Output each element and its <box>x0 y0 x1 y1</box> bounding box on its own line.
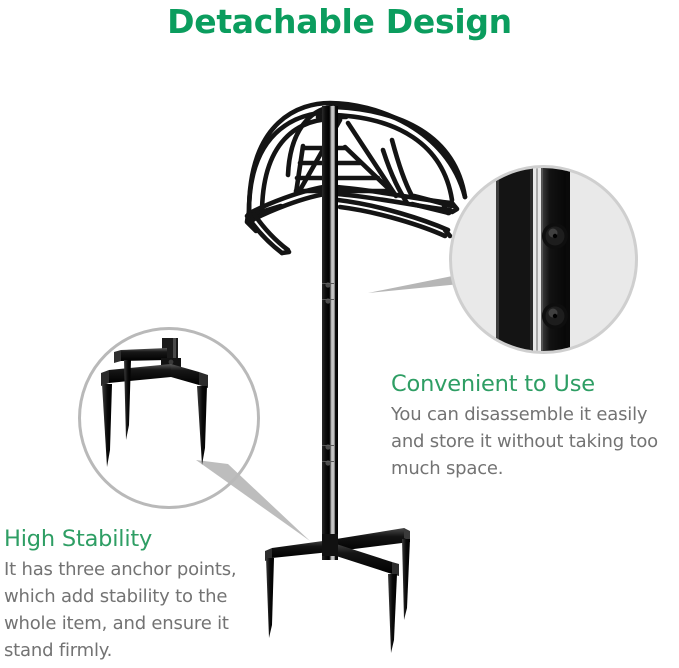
pole-joint-zoom-svg <box>452 168 635 351</box>
bolt-lower-icon <box>542 303 568 329</box>
callout-anchor-spikes-content <box>81 330 257 506</box>
anchor-base <box>265 528 410 653</box>
hose-rack-wireframe <box>247 103 465 253</box>
callout-pole-joint-content <box>452 168 635 351</box>
feature-block-convenient: Convenient to Use You can disassemble it… <box>391 371 663 482</box>
callout-pole-joint-detail <box>449 165 638 354</box>
vertical-pole <box>322 106 338 560</box>
callout-anchor-spikes-detail <box>78 327 260 509</box>
zoom-arm-back <box>121 348 167 361</box>
feature-block-stability: High Stability It has three anchor point… <box>4 526 262 664</box>
bolt-upper-icon <box>542 223 568 249</box>
anchor-spikes-zoom-svg <box>81 330 257 506</box>
ground-spike-front <box>388 574 397 653</box>
zoom-arm-right <box>171 364 199 385</box>
pole-face-left <box>496 168 533 351</box>
zoom-spike-back <box>124 360 131 440</box>
pole-highlight <box>333 106 335 560</box>
feature-heading-stability: High Stability <box>4 526 262 552</box>
zoom-arm-left <box>109 364 171 383</box>
infographic-page: Detachable Design <box>0 0 679 668</box>
zoom-spike-right <box>197 386 207 465</box>
feature-body-convenient: You can disassemble it easily and store … <box>391 401 663 482</box>
ground-spike-right <box>402 539 410 620</box>
feature-body-stability: It has three anchor points, which add st… <box>4 556 262 664</box>
zoom-spike-left <box>102 384 112 467</box>
feature-heading-convenient: Convenient to Use <box>391 371 663 397</box>
ground-spike-left <box>266 558 274 638</box>
